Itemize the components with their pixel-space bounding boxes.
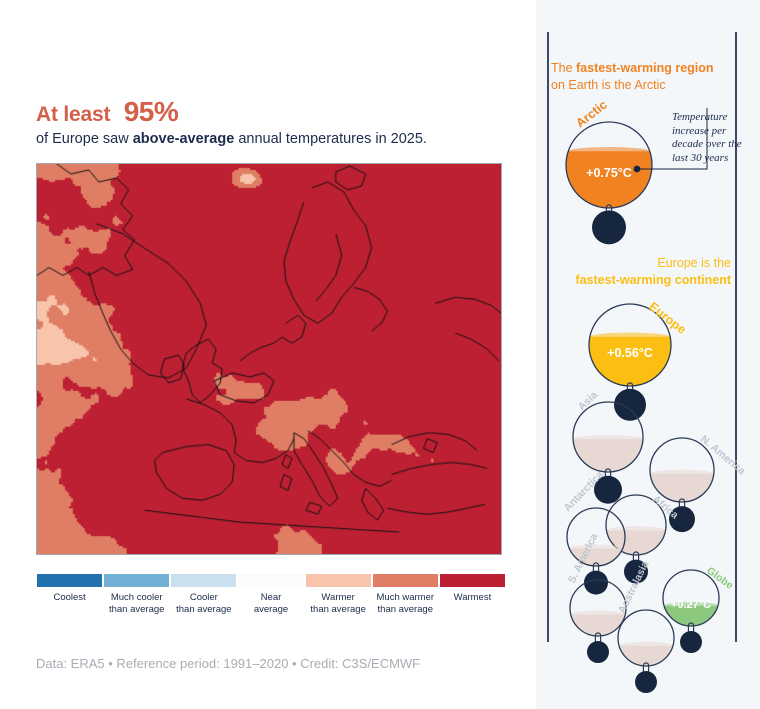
bulb-meniscus xyxy=(619,642,673,650)
legend-label: Warmerthan average xyxy=(306,592,371,615)
bulb-value-label: +0.56°C xyxy=(607,346,653,360)
bulb-region-label: Europe xyxy=(646,299,689,337)
legend-item: Much warmerthan average xyxy=(372,574,439,615)
bulb-value-label: +0.27°C xyxy=(671,599,711,611)
bulb-base xyxy=(614,389,646,421)
bulb-region-label: Asia xyxy=(576,389,600,413)
legend-swatch xyxy=(306,574,371,587)
bulb-base xyxy=(680,631,702,653)
bulb-base xyxy=(587,641,609,663)
legend-label: Warmest xyxy=(440,592,505,604)
bulb-meniscus xyxy=(571,611,625,619)
subtitle-part-2: annual temperatures in 2025. xyxy=(234,131,427,147)
bulb-n-america: N. America xyxy=(650,433,748,538)
legend-item: Warmest xyxy=(439,574,506,615)
legend-swatch xyxy=(238,574,303,587)
legend-label: Much warmerthan average xyxy=(373,592,438,615)
legend-label: Nearaverage xyxy=(238,592,303,615)
bulb-australasia: Australasia xyxy=(616,559,674,702)
bulb-value-label: +0.75°C xyxy=(586,166,632,180)
bulb-base xyxy=(592,210,626,244)
bulb-meniscus xyxy=(606,526,665,534)
bulb-meniscus xyxy=(568,147,649,155)
infographic-root: At least 95% of Europe saw above-average… xyxy=(0,0,760,709)
bulb-meniscus xyxy=(650,470,714,478)
bulb-base xyxy=(635,671,657,693)
bulb-meniscus xyxy=(590,333,670,341)
legend-swatch xyxy=(440,574,505,587)
legend-swatch xyxy=(373,574,438,587)
thermometer-bulb-group: Arctic+0.75°CEurope+0.56°CAsiaN. America… xyxy=(0,0,224,709)
bulb-region-label: N. America xyxy=(698,433,748,477)
legend-item: Warmerthan average xyxy=(305,574,372,615)
bulb-globe: Globe+0.27°C xyxy=(663,565,735,662)
bulb-svg: Arctic+0.75°CEurope+0.56°CAsiaN. America… xyxy=(536,0,760,709)
legend-item: Nearaverage xyxy=(237,574,304,615)
bulb-region-label: Globe xyxy=(704,565,735,592)
bulb-meniscus xyxy=(573,435,643,443)
